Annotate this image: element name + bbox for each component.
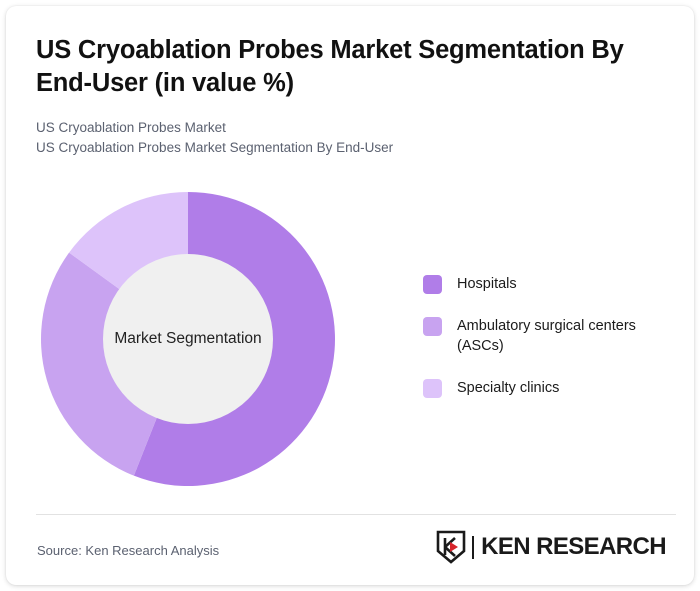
source-note: Source: Ken Research Analysis: [37, 543, 219, 558]
legend-item-label: Ambulatory surgical centers (ASCs): [457, 316, 673, 356]
legend-item-label: Specialty clinics: [457, 378, 559, 398]
subtitle-segmentation: US Cryoablation Probes Market Segmentati…: [36, 138, 636, 158]
logo-wordmark: KEN RESEARCH: [481, 535, 666, 559]
logo-divider: [472, 536, 474, 559]
subtitle-block: US Cryoablation Probes Market US Cryoabl…: [36, 118, 636, 158]
legend-item[interactable]: Hospitals: [423, 274, 673, 294]
legend-item[interactable]: Specialty clinics: [423, 378, 673, 398]
legend-item-label: Hospitals: [457, 274, 517, 294]
legend-swatch-icon: [423, 275, 442, 294]
subtitle-market: US Cryoablation Probes Market: [36, 118, 636, 138]
donut-chart: Market Segmentation: [41, 192, 335, 486]
ken-research-shield-icon: [436, 530, 466, 564]
legend-swatch-icon: [423, 379, 442, 398]
chart-card: US Cryoablation Probes Market Segmentati…: [6, 6, 694, 585]
page-title: US Cryoablation Probes Market Segmentati…: [36, 34, 678, 99]
footer-divider: [36, 514, 676, 515]
donut-hole: [103, 254, 273, 424]
donut-chart-svg: [41, 192, 335, 486]
legend-item[interactable]: Ambulatory surgical centers (ASCs): [423, 316, 673, 356]
ken-research-logo: KEN RESEARCH: [436, 530, 666, 564]
legend-swatch-icon: [423, 317, 442, 336]
chart-legend: Hospitals Ambulatory surgical centers (A…: [423, 274, 673, 420]
